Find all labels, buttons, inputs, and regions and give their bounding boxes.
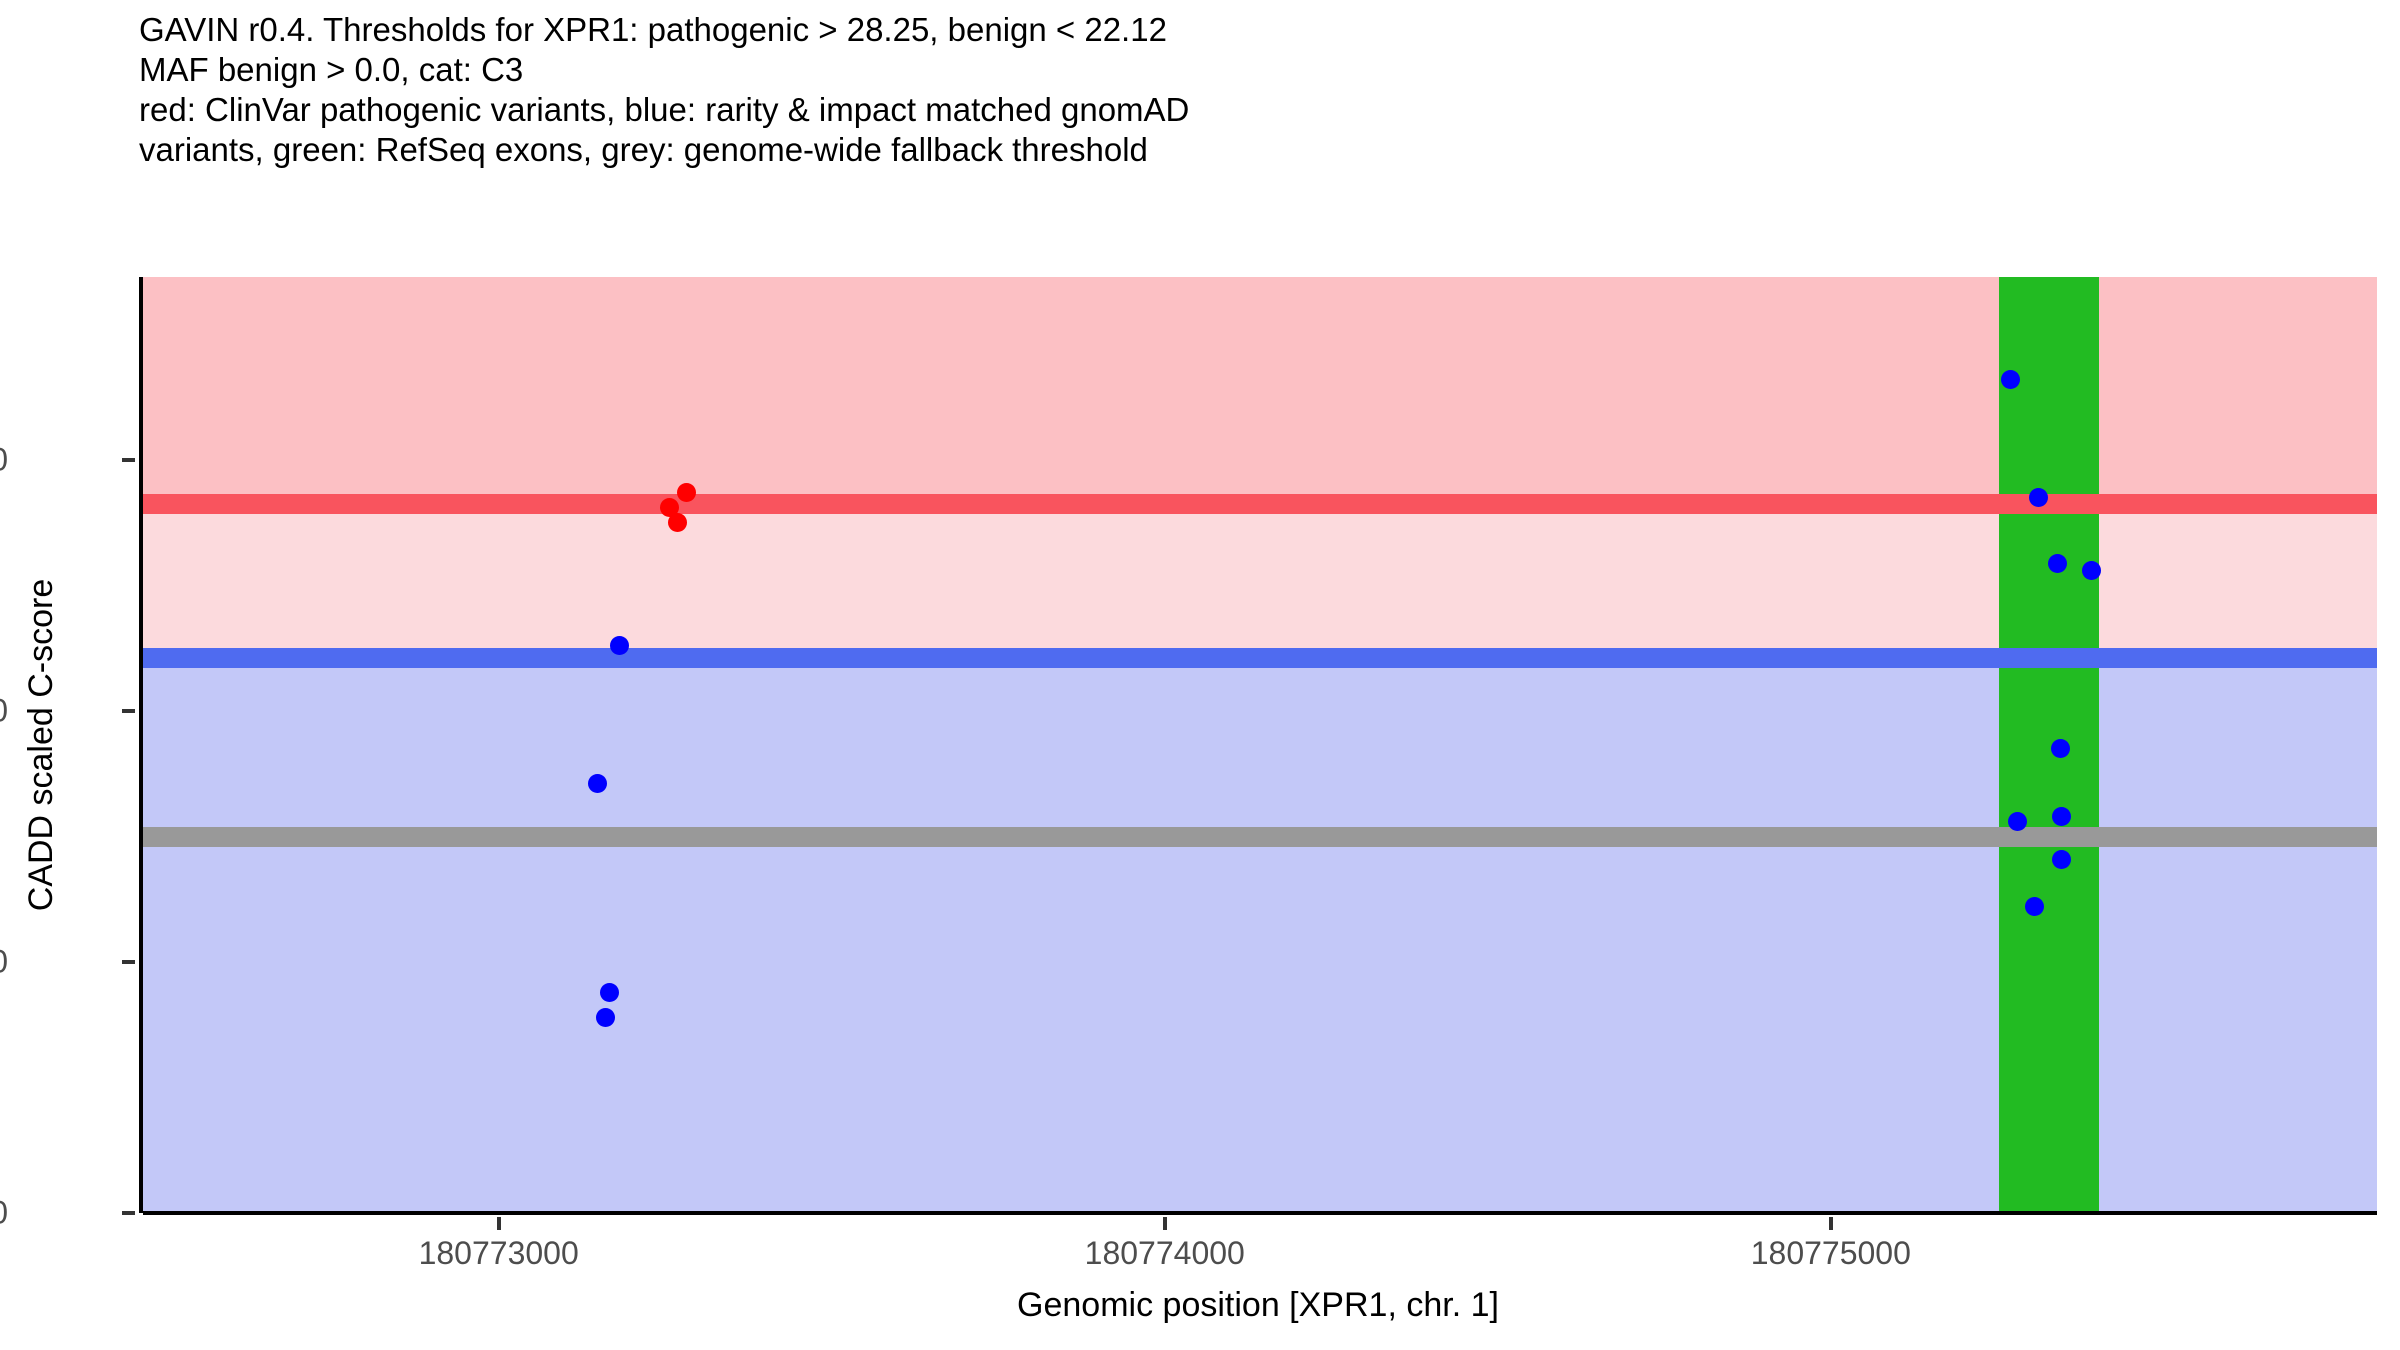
exon-rect	[1999, 277, 2099, 1213]
title-line-3: red: ClinVar pathogenic variants, blue: …	[139, 90, 2239, 130]
x-tick-label: 180775000	[1751, 1235, 1911, 1272]
x-tick-mark	[1163, 1217, 1167, 1230]
data-point	[668, 513, 687, 532]
y-axis-label: CADD scaled C-score	[22, 277, 61, 1213]
y-tick-label: 30	[0, 442, 8, 479]
y-tick-mark	[122, 709, 135, 713]
title-line-2: MAF benign > 0.0, cat: C3	[139, 50, 2239, 90]
threshold-line-benign	[143, 648, 2377, 668]
title-line-4: variants, green: RefSeq exons, grey: gen…	[139, 130, 2239, 170]
data-point	[596, 1008, 615, 1027]
plot-panel	[139, 277, 2377, 1213]
data-point	[2082, 561, 2101, 580]
x-tick-mark	[1829, 1217, 1833, 1230]
data-point	[2048, 554, 2067, 573]
x-axis-label: Genomic position [XPR1, chr. 1]	[139, 1286, 2377, 1325]
chart-title-block: GAVIN r0.4. Thresholds for XPR1: pathoge…	[139, 10, 2239, 170]
y-tick-mark	[122, 1211, 135, 1215]
zero-baseline	[143, 1211, 2377, 1215]
x-tick-label: 180773000	[419, 1235, 579, 1272]
x-tick-label: 180774000	[1085, 1235, 1245, 1272]
x-tick-mark	[497, 1217, 501, 1230]
y-tick-label: 0	[0, 1195, 8, 1232]
y-tick-label: 20	[0, 693, 8, 730]
title-line-1: GAVIN r0.4. Thresholds for XPR1: pathoge…	[139, 10, 2239, 50]
threshold-line-genome-wide-fallback	[143, 827, 2377, 847]
y-tick-mark	[122, 458, 135, 462]
y-tick-mark	[122, 960, 135, 964]
data-point	[2052, 850, 2071, 869]
chart-root: GAVIN r0.4. Thresholds for XPR1: pathoge…	[0, 0, 2400, 1350]
data-point	[610, 636, 629, 655]
y-tick-label: 10	[0, 944, 8, 981]
data-point	[600, 983, 619, 1002]
